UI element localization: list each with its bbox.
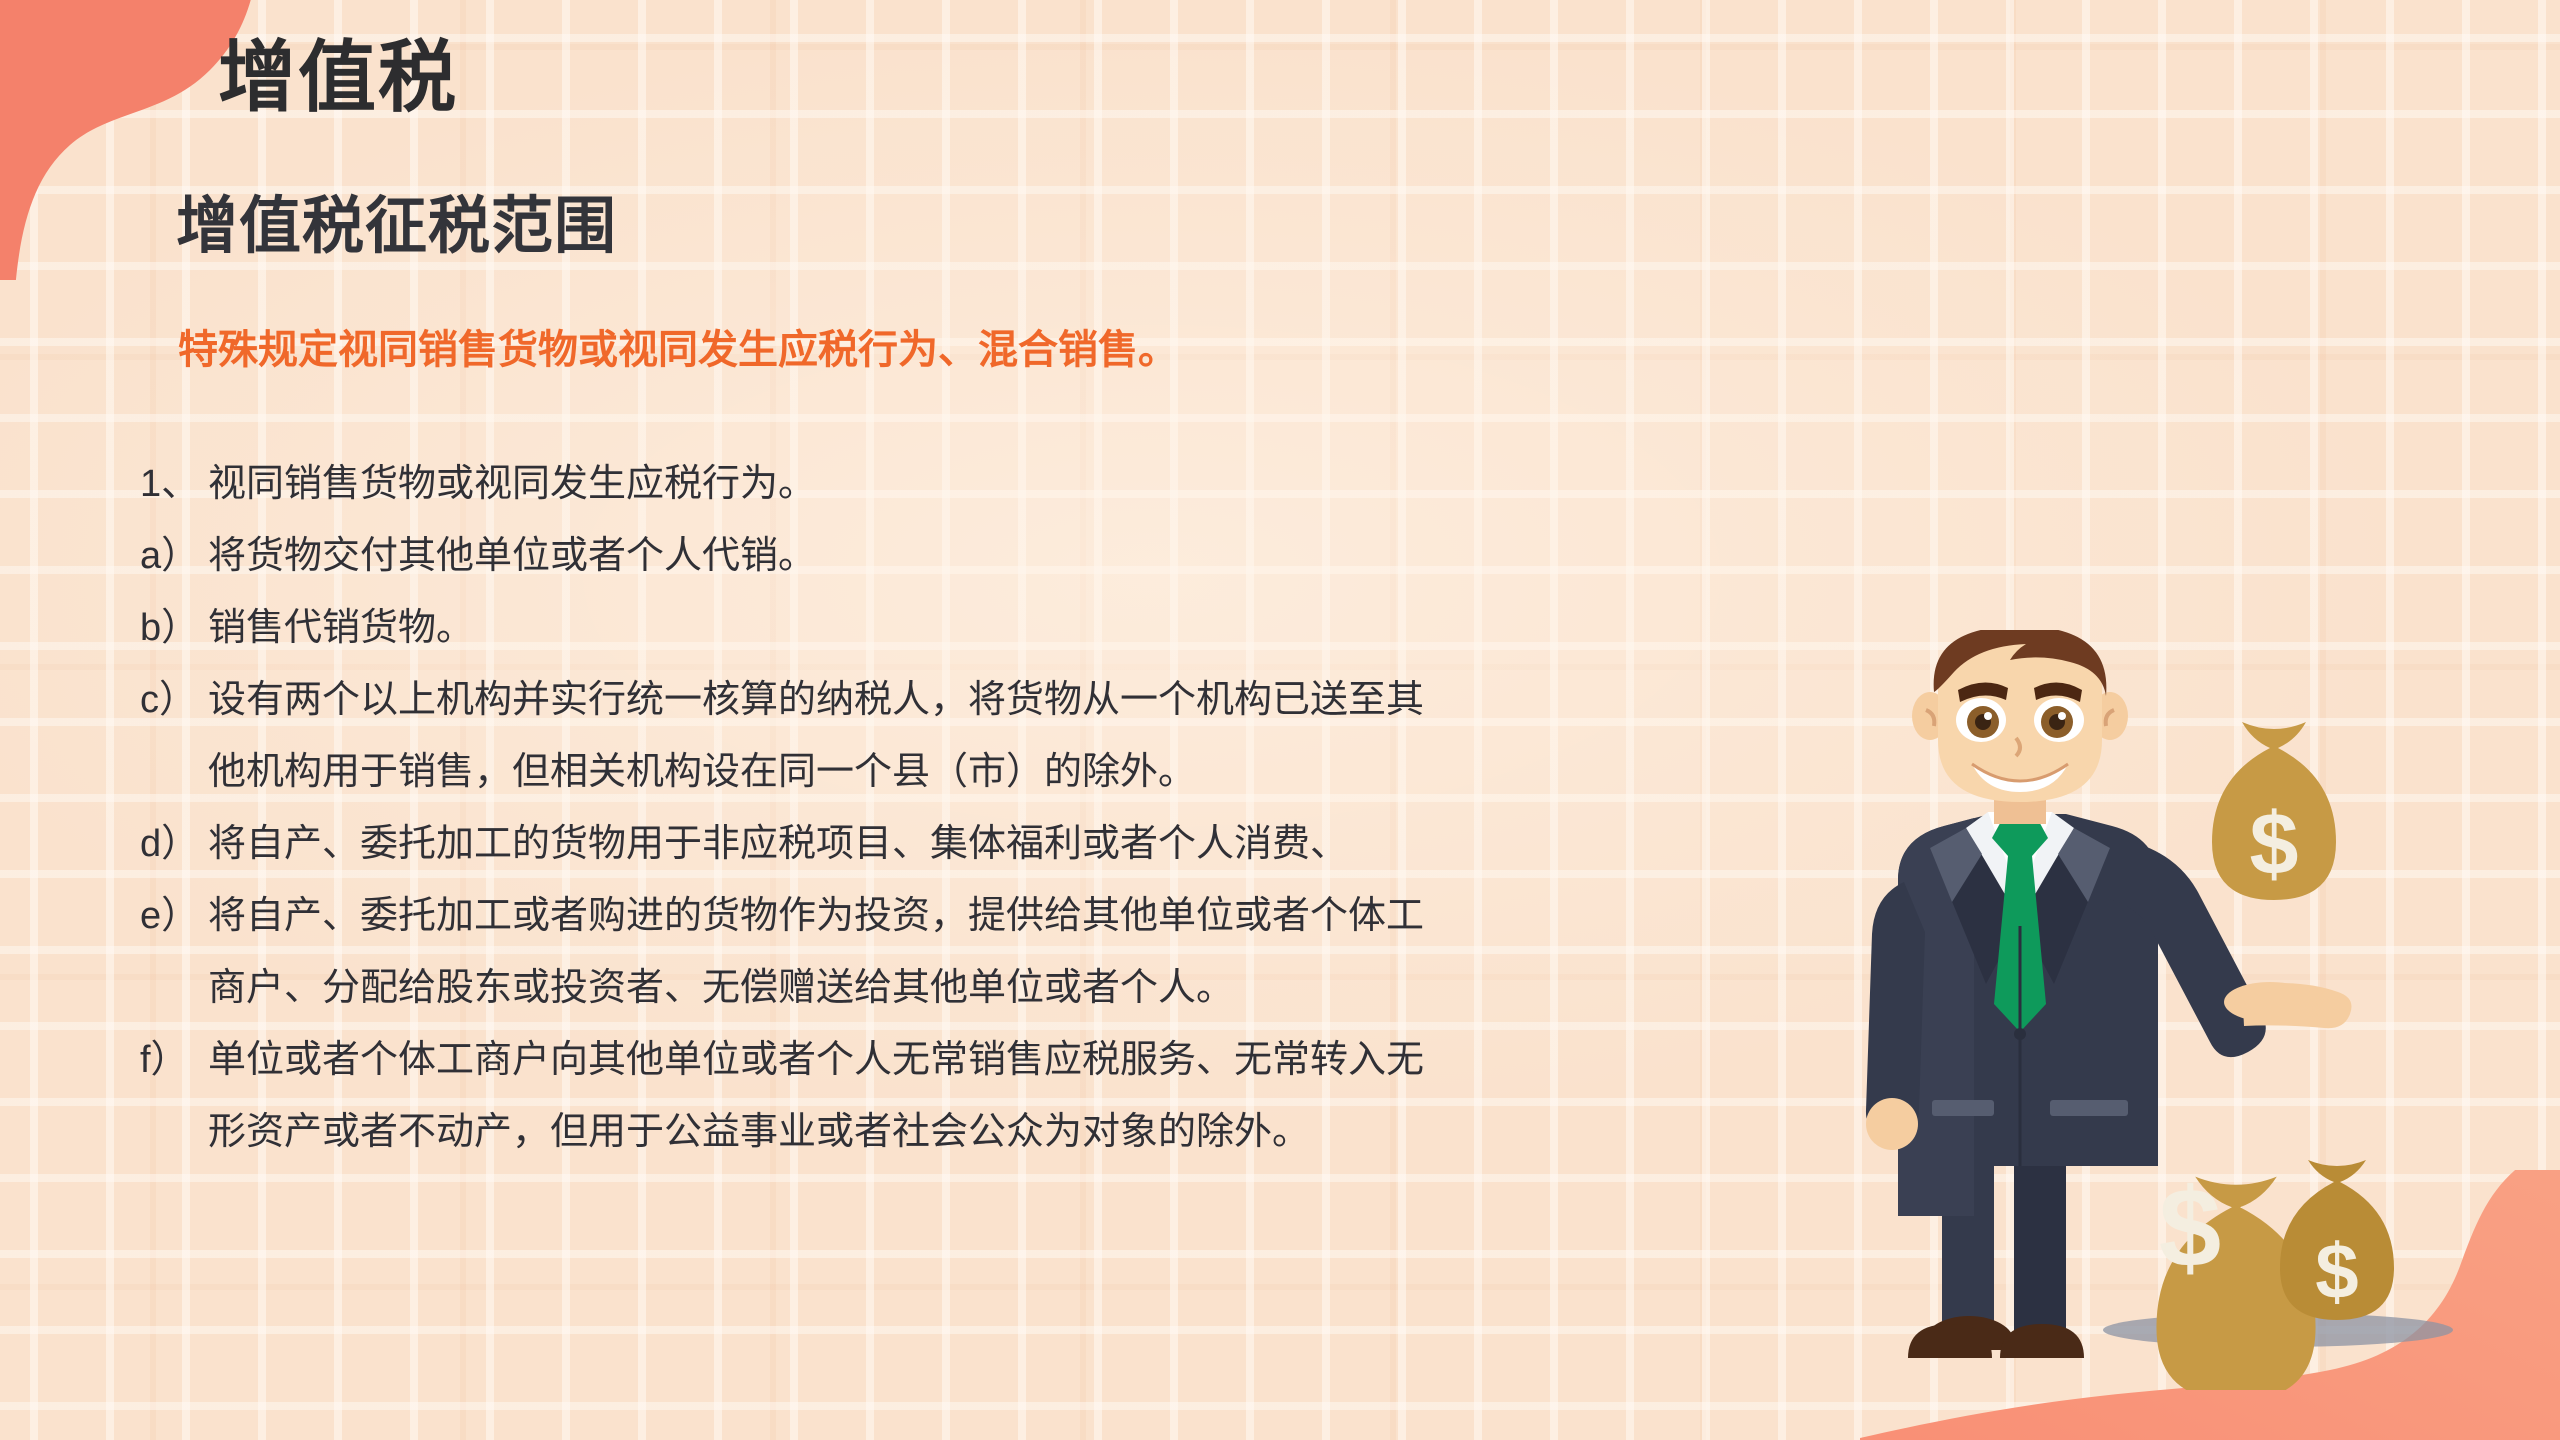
list-item-marker: d）	[140, 815, 208, 873]
list-item: 1、 视同销售货物或视同发生应税行为。	[140, 455, 1820, 513]
list-item: f） 单位或者个体工商户向其他单位或者个人无常销售应税服务、无常转入无 形资产或…	[140, 1031, 1820, 1161]
slide-canvas: 增值税 增值税征税范围 特殊规定视同销售货物或视同发生应税行为、混合销售。 1、…	[0, 0, 2560, 1440]
list-item-marker: b）	[140, 599, 208, 657]
list-item-line: 形资产或者不动产，但用于公益事业或者社会公众为对象的除外。	[208, 1103, 1820, 1161]
list-item: d） 将自产、委托加工的货物用于非应税项目、集体福利或者个人消费、	[140, 815, 1820, 873]
money-bag-small-icon: $	[2280, 1160, 2394, 1320]
content-list: 1、 视同销售货物或视同发生应税行为。 a） 将货物交付其他单位或者个人代销。 …	[140, 455, 1820, 1175]
money-bag-held-icon: $	[2212, 722, 2336, 900]
list-item-marker: e）	[140, 887, 208, 945]
list-item-marker: a）	[140, 527, 208, 585]
list-item-marker: 1、	[140, 455, 208, 513]
money-bag-small-symbol: $	[2315, 1227, 2358, 1315]
list-item: c） 设有两个以上机构并实行统一核算的纳税人，将货物从一个机构已送至其 他机构用…	[140, 671, 1820, 801]
list-item-text: 将自产、委托加工的货物用于非应税项目、集体福利或者个人消费、	[208, 815, 1820, 873]
list-item-line: 单位或者个体工商户向其他单位或者个人无常销售应税服务、无常转入无	[208, 1031, 1820, 1089]
money-bag-large-symbol: $	[2159, 1165, 2221, 1290]
list-item-line: 商户、分配给股东或投资者、无偿赠送给其他单位或者个人。	[208, 959, 1820, 1017]
head-icon	[1912, 630, 2128, 802]
lead-statement: 特殊规定视同销售货物或视同发生应税行为、混合销售。	[178, 330, 1178, 370]
left-arm-icon	[1866, 882, 1925, 1150]
list-item-text: 将自产、委托加工或者购进的货物作为投资，提供给其他单位或者个体工 商户、分配给股…	[208, 887, 1820, 1017]
list-item-line: 将自产、委托加工的货物用于非应税项目、集体福利或者个人消费、	[208, 815, 1820, 873]
list-item-marker: f）	[140, 1031, 208, 1089]
list-item-line: 将货物交付其他单位或者个人代销。	[208, 527, 1820, 585]
money-bag-held-symbol: $	[2250, 794, 2299, 893]
list-item-text: 设有两个以上机构并实行统一核算的纳税人，将货物从一个机构已送至其 他机构用于销售…	[208, 671, 1820, 801]
list-item-line: 销售代销货物。	[208, 599, 1820, 657]
list-item-line: 设有两个以上机构并实行统一核算的纳税人，将货物从一个机构已送至其	[208, 671, 1820, 729]
list-item-text: 单位或者个体工商户向其他单位或者个人无常销售应税服务、无常转入无 形资产或者不动…	[208, 1031, 1820, 1161]
list-item-text: 视同销售货物或视同发生应税行为。	[208, 455, 1820, 513]
businessman-illustration: $ $	[1838, 630, 2538, 1390]
list-item: b） 销售代销货物。	[140, 599, 1820, 657]
page-subtitle: 增值税征税范围	[176, 196, 617, 258]
list-item-text: 将货物交付其他单位或者个人代销。	[208, 527, 1820, 585]
eye-right-icon	[2034, 698, 2084, 742]
list-item-line: 他机构用于销售，但相关机构设在同一个县（市）的除外。	[208, 743, 1820, 801]
list-item: e） 将自产、委托加工或者购进的货物作为投资，提供给其他单位或者个体工 商户、分…	[140, 887, 1820, 1017]
list-item: a） 将货物交付其他单位或者个人代销。	[140, 527, 1820, 585]
list-item-marker: c）	[140, 671, 208, 729]
list-item-line: 将自产、委托加工或者购进的货物作为投资，提供给其他单位或者个体工	[208, 887, 1820, 945]
page-title: 增值税	[218, 38, 458, 116]
list-item-line: 视同销售货物或视同发生应税行为。	[208, 455, 1820, 513]
list-item-text: 销售代销货物。	[208, 599, 1820, 657]
eye-left-icon	[1956, 698, 2006, 742]
